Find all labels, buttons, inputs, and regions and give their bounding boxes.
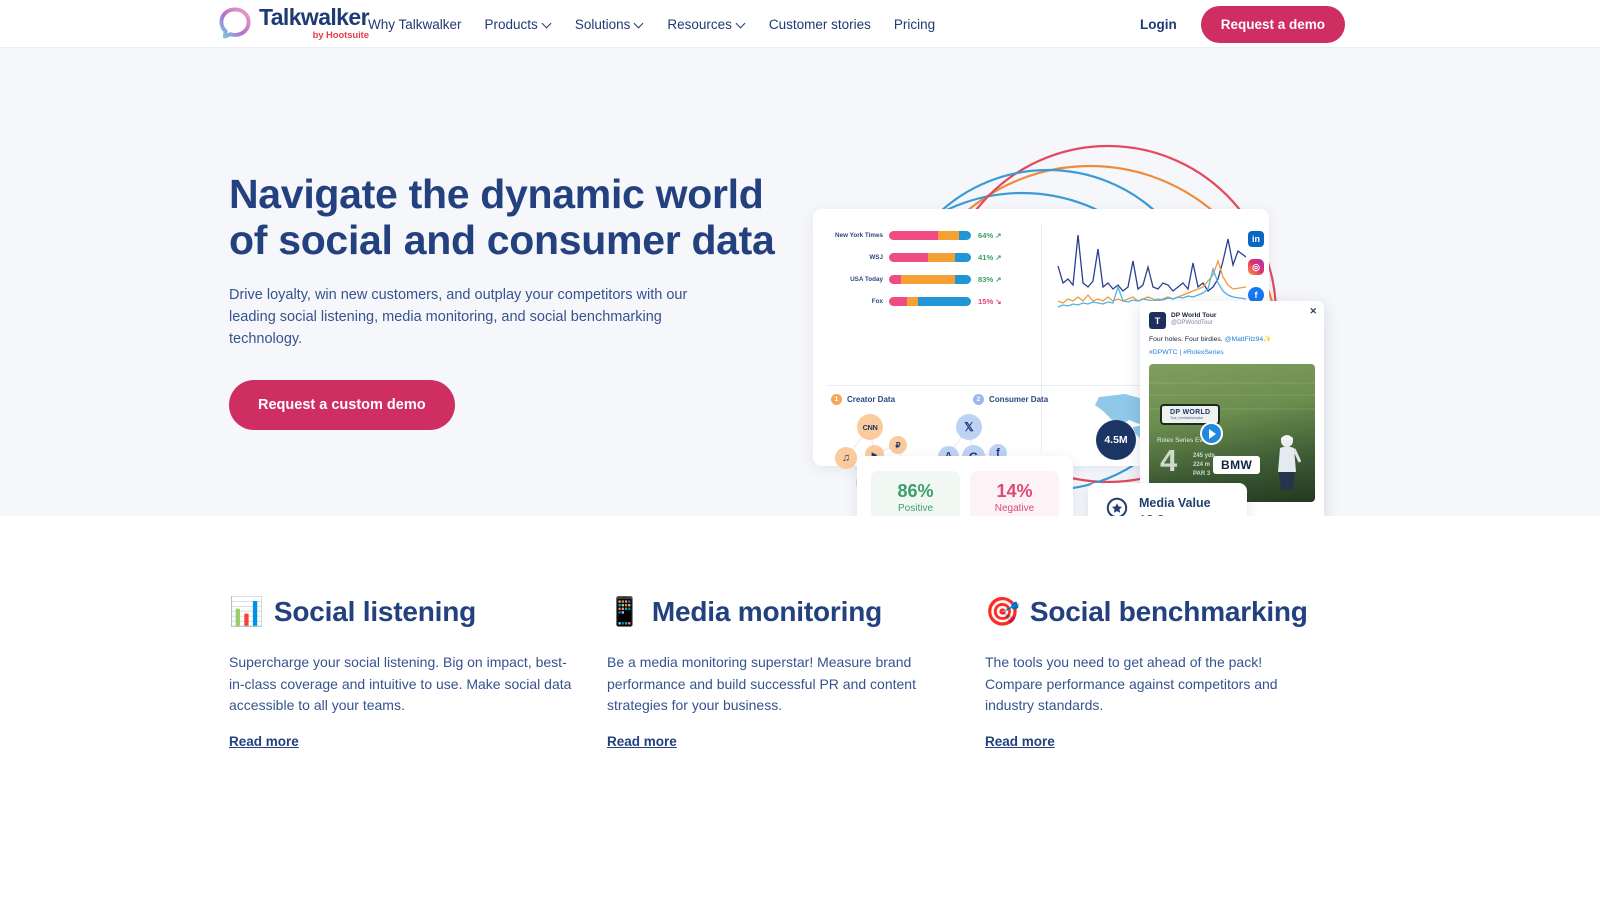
media-value-card: Media Value 12.8 — [1088, 483, 1247, 516]
hero-subtitle: Drive loyalty, win new customers, and ou… — [229, 285, 729, 350]
hero-copy: Navigate the dynamic world of social and… — [229, 172, 789, 430]
nav-actions: Login Request a demo — [1140, 0, 1345, 48]
logo-name: Talkwalker — [259, 6, 369, 29]
bar-track — [889, 253, 971, 262]
award-star-icon — [1104, 497, 1130, 516]
logo-subtitle: by Hootsuite — [259, 31, 369, 41]
trend-down-icon: ↘ — [995, 297, 1001, 306]
positive-sentiment-tile: 86% Positive — [871, 471, 960, 516]
nav-item-customer-stories[interactable]: Customer stories — [769, 17, 871, 32]
bar-segment-2 — [928, 253, 954, 262]
nav-item-label: Why Talkwalker — [368, 17, 462, 32]
landing-page: Talkwalker by Hootsuite Why Talkwalker P… — [0, 0, 1600, 900]
instagram-icon: ◎ — [1248, 259, 1264, 275]
media-value-title: Media Value — [1139, 496, 1211, 510]
badge-number: 2 — [973, 394, 984, 405]
read-more-link[interactable]: Read more — [607, 734, 677, 749]
map-value-bubble: 4.5M — [1096, 420, 1136, 460]
nav-item-label: Resources — [667, 17, 732, 32]
sponsor-logo: BMW — [1213, 456, 1260, 474]
read-more-link[interactable]: Read more — [229, 734, 299, 749]
feature-heading: 📱 Media monitoring — [607, 596, 953, 628]
panel-divider-vertical — [1041, 223, 1042, 452]
logo[interactable]: Talkwalker by Hootsuite — [218, 6, 369, 41]
feature-social-listening: 📊 Social listening Supercharge your soci… — [229, 596, 607, 751]
hole-details: 245 yds 224 m PAR 3 — [1193, 452, 1215, 478]
bar-value: 15% ↘ — [971, 297, 1001, 306]
post-mention[interactable]: @MattFitz94 — [1225, 336, 1264, 343]
feature-description: Supercharge your social listening. Big o… — [229, 652, 575, 717]
post-text: Four holes. Four birdies. @MattFitz94✨ — [1140, 329, 1324, 345]
feature-media-monitoring: 📱 Media monitoring Be a media monitoring… — [607, 596, 985, 751]
bar-row: Fox 15% ↘ — [831, 292, 1031, 311]
bar-segment-1 — [889, 231, 938, 240]
feature-heading: 🎯 Social benchmarking — [985, 596, 1313, 628]
negative-sentiment-tile: 14% Negative — [970, 471, 1059, 516]
nav-item-why-talkwalker[interactable]: Why Talkwalker — [368, 17, 462, 32]
chevron-down-icon — [543, 20, 552, 29]
cnn-node-icon: CNN — [857, 414, 883, 440]
bar-value: 64% ↗ — [971, 231, 1001, 240]
feature-title: Social benchmarking — [1030, 596, 1308, 628]
bar-label: Fox — [831, 298, 889, 305]
bar-row: USA Today 83% ↗ — [831, 270, 1031, 289]
bar-segment-3 — [959, 231, 971, 240]
bar-value-text: 83% — [978, 275, 993, 284]
bar-label: WSJ — [831, 254, 889, 261]
post-handle: @DPWorldTour — [1171, 320, 1216, 326]
bar-row: New York Times 64% ↗ — [831, 226, 1031, 245]
bar-segment-2 — [901, 275, 954, 284]
bar-value-text: 41% — [978, 253, 993, 262]
data-source-labels: 1 Creator Data 2 Consumer Data — [831, 394, 1048, 405]
nav-item-label: Customer stories — [769, 17, 871, 32]
bar-segment-2 — [907, 297, 918, 306]
bar-segment-3 — [955, 275, 971, 284]
bar-value: 83% ↗ — [971, 275, 1001, 284]
positive-label: Positive — [898, 503, 933, 514]
feature-social-benchmarking: 🎯 Social benchmarking The tools you need… — [985, 596, 1345, 751]
post-video-thumbnail[interactable]: DP WORLD Tour | mediachampion Rolex Seri… — [1149, 364, 1315, 502]
bar-segment-1 — [889, 275, 901, 284]
bar-row: WSJ 41% ↗ — [831, 248, 1031, 267]
avatar: T — [1149, 312, 1166, 329]
sentiment-card: 86% Positive 14% Negative — [857, 456, 1073, 516]
label-text: Creator Data — [847, 395, 895, 404]
bar-track — [889, 231, 971, 240]
bar-value-text: 15% — [978, 297, 993, 306]
post-author: DP World Tour — [1171, 312, 1216, 319]
bar-segment-2 — [938, 231, 959, 240]
creator-data-label: 1 Creator Data — [831, 394, 895, 405]
nav-item-label: Products — [485, 17, 538, 32]
feature-title: Media monitoring — [652, 596, 882, 628]
chevron-down-icon — [737, 20, 746, 29]
bar-segment-1 — [889, 253, 928, 262]
nav-item-label: Pricing — [894, 17, 935, 32]
bar-segment-3 — [918, 297, 971, 306]
nav-item-solutions[interactable]: Solutions — [575, 17, 645, 32]
golfer-figure — [1271, 432, 1301, 490]
post-hashtags: #DPWTC | #RolexSeries — [1140, 345, 1324, 358]
feature-description: The tools you need to get ahead of the p… — [985, 652, 1313, 717]
consumer-data-label: 2 Consumer Data — [973, 394, 1048, 405]
feature-title: Social listening — [274, 596, 476, 628]
bar-segment-3 — [955, 253, 971, 262]
nav-item-pricing[interactable]: Pricing — [894, 17, 935, 32]
badge-line-2: Tour | mediachampion — [1170, 416, 1210, 420]
top-navigation-bar: Talkwalker by Hootsuite Why Talkwalker P… — [0, 0, 1600, 48]
hole-number: 4 — [1160, 447, 1177, 475]
bar-value-text: 64% — [978, 231, 993, 240]
nav-item-resources[interactable]: Resources — [667, 17, 746, 32]
trend-up-icon: ↗ — [995, 231, 1001, 240]
x-twitter-node-icon: 𝕏 — [956, 414, 982, 440]
page-title: Navigate the dynamic world of social and… — [229, 172, 789, 263]
talkwalker-logo-icon — [218, 6, 252, 40]
post-sparkle-icon: ✨ — [1263, 336, 1271, 343]
post-header: T DP World Tour @DPWorldTour — [1140, 301, 1324, 329]
media-share-bar-chart: New York Times 64% ↗ WSJ — [831, 226, 1031, 314]
mobile-phone-emoji: 📱 — [607, 598, 642, 626]
features-section: 📊 Social listening Supercharge your soci… — [0, 516, 1600, 751]
close-icon[interactable]: ✕ — [1309, 306, 1317, 317]
negative-label: Negative — [995, 503, 1034, 514]
login-link[interactable]: Login — [1140, 17, 1177, 32]
nav-menu: Why Talkwalker Products Solutions Resour… — [368, 0, 935, 48]
positive-value: 86% — [897, 481, 933, 502]
hero-section: Navigate the dynamic world of social and… — [0, 48, 1600, 516]
tiktok-node-icon: ♫ — [835, 447, 857, 469]
bar-segment-1 — [889, 297, 907, 306]
bar-track — [889, 275, 971, 284]
bar-value: 41% ↗ — [971, 253, 1001, 262]
chevron-down-icon — [635, 20, 644, 29]
badge-number: 1 — [831, 394, 842, 405]
engagement-line-chart: in ◎ f — [1056, 221, 1256, 311]
request-custom-demo-button[interactable]: Request a custom demo — [229, 380, 455, 430]
currency-node-icon: ₽ — [889, 436, 907, 454]
linkedin-icon: in — [1248, 231, 1264, 247]
line-chart-svg — [1056, 221, 1256, 311]
read-more-link[interactable]: Read more — [985, 734, 1055, 749]
negative-value: 14% — [996, 481, 1032, 502]
hashtag-text[interactable]: #DPWTC | #RolexSeries — [1149, 349, 1224, 356]
feature-heading: 📊 Social listening — [229, 596, 575, 628]
trend-up-icon: ↗ — [995, 253, 1001, 262]
dart-emoji: 🎯 — [985, 598, 1020, 626]
bar-label: USA Today — [831, 276, 889, 283]
feature-description: Be a media monitoring superstar! Measure… — [607, 652, 953, 717]
play-icon[interactable] — [1200, 422, 1223, 445]
nav-item-products[interactable]: Products — [485, 17, 552, 32]
post-body: Four holes. Four birdies. — [1149, 336, 1225, 343]
request-demo-button[interactable]: Request a demo — [1201, 6, 1345, 43]
bar-track — [889, 297, 971, 306]
nav-item-label: Solutions — [575, 17, 631, 32]
bar-chart-emoji: 📊 — [229, 598, 264, 626]
hero-illustration: New York Times 64% ↗ WSJ — [790, 138, 1390, 516]
label-text: Consumer Data — [989, 395, 1048, 404]
badge-line-1: DP WORLD — [1170, 409, 1210, 416]
trend-up-icon: ↗ — [995, 275, 1001, 284]
bar-label: New York Times — [831, 232, 889, 239]
